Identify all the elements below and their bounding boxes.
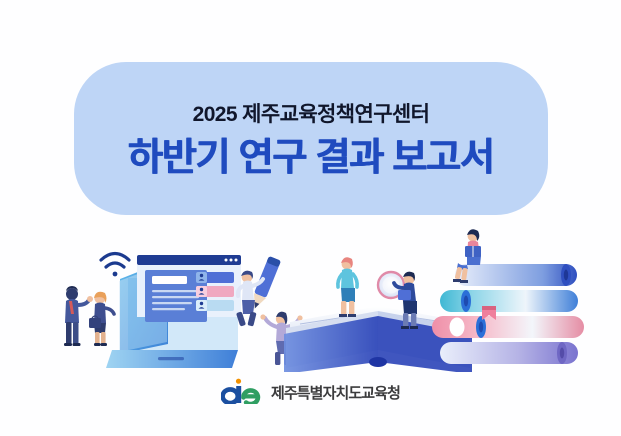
title-banner: 2025 제주교육정책연구센터 하반기 연구 결과 보고서 — [74, 62, 548, 215]
book-pink — [432, 316, 584, 338]
person-standing-on-book — [338, 257, 357, 317]
book-teal — [440, 290, 578, 312]
cover-subtitle: 2025 제주교육정책연구센터 — [193, 104, 430, 125]
cover-main-title: 하반기 연구 결과 보고서 — [128, 139, 494, 179]
illustration-area — [0, 222, 621, 372]
jeju-education-office-logo-icon — [221, 378, 263, 409]
open-book — [284, 306, 472, 372]
book-navy — [455, 264, 577, 286]
report-cover-page: 2025 제주교육정책연구센터 하반기 연구 결과 보고서 — [0, 0, 621, 436]
footer-logo: 제주특별자치도교육청 — [0, 378, 621, 409]
list-row-3 — [196, 300, 234, 311]
person-man-suit — [64, 286, 93, 346]
organization-name: 제주특별자치도교육청 — [271, 386, 400, 401]
list-row-2 — [196, 286, 234, 297]
book-purple — [440, 342, 578, 364]
list-row-1 — [196, 272, 234, 283]
logo-dot — [236, 379, 241, 384]
wifi-icon — [101, 254, 129, 277]
